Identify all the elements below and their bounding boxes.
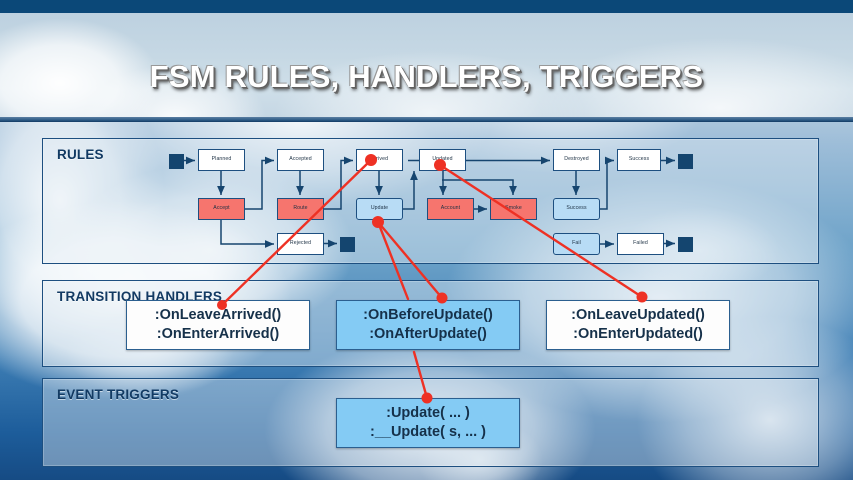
handler-update-line1: :OnBeforeUpdate() — [363, 306, 493, 325]
fsm-terminator-start[interactable] — [169, 154, 184, 169]
fsm-state-diagram: PlannedAcceptedArrivedUpdatedDestroyedSu… — [42, 138, 817, 262]
handler-update-line2: :OnAfterUpdate() — [369, 325, 487, 344]
slide-header: FSM RULES, HANDLERS, TRIGGERS — [0, 13, 853, 122]
header-divider — [0, 117, 853, 122]
fsm-node-fail[interactable]: Fail — [553, 233, 600, 255]
fsm-node-account[interactable]: Account — [427, 198, 474, 220]
trigger-box-update[interactable]: :Update( ... ) :__Update( s, ... ) — [336, 398, 520, 448]
page-title: FSM RULES, HANDLERS, TRIGGERS — [0, 59, 853, 95]
trigger-update-line2: :__Update( s, ... ) — [370, 423, 486, 442]
slide-root: FSM RULES, HANDLERS, TRIGGERS RULES — [0, 0, 853, 480]
handler-box-arrived[interactable]: :OnLeaveArrived() :OnEnterArrived() — [126, 300, 310, 350]
fsm-node-arrived[interactable]: Arrived — [356, 149, 403, 171]
triggers-panel-title: EVENT TRIGGERS — [57, 387, 179, 402]
fsm-node-accept[interactable]: Accept — [198, 198, 245, 220]
fsm-node-planned[interactable]: Planned — [198, 149, 245, 171]
fsm-node-smoke[interactable]: Smoke — [490, 198, 537, 220]
fsm-node-update[interactable]: Update — [356, 198, 403, 220]
handler-box-update[interactable]: :OnBeforeUpdate() :OnAfterUpdate() — [336, 300, 520, 350]
fsm-node-updated[interactable]: Updated — [419, 149, 466, 171]
handler-box-updated[interactable]: :OnLeaveUpdated() :OnEnterUpdated() — [546, 300, 730, 350]
fsm-node-destroyed[interactable]: Destroyed — [553, 149, 600, 171]
handler-updated-line1: :OnLeaveUpdated() — [571, 306, 705, 325]
fsm-node-accepted[interactable]: Accepted — [277, 149, 324, 171]
trigger-update-line1: :Update( ... ) — [386, 404, 470, 423]
fsm-terminator-end3[interactable] — [678, 237, 693, 252]
fsm-node-success1[interactable]: Success — [553, 198, 600, 220]
handler-arrived-line2: :OnEnterArrived() — [157, 325, 279, 344]
top-navy-band — [0, 0, 853, 13]
handler-updated-line2: :OnEnterUpdated() — [573, 325, 703, 344]
fsm-terminator-end1[interactable] — [678, 154, 693, 169]
fsm-node-rejected[interactable]: Rejected — [277, 233, 324, 255]
fsm-node-failed[interactable]: Failed — [617, 233, 664, 255]
fsm-node-route[interactable]: Route — [277, 198, 324, 220]
handler-arrived-line1: :OnLeaveArrived() — [155, 306, 282, 325]
fsm-terminator-end2[interactable] — [340, 237, 355, 252]
fsm-node-success2[interactable]: Success — [617, 149, 661, 171]
